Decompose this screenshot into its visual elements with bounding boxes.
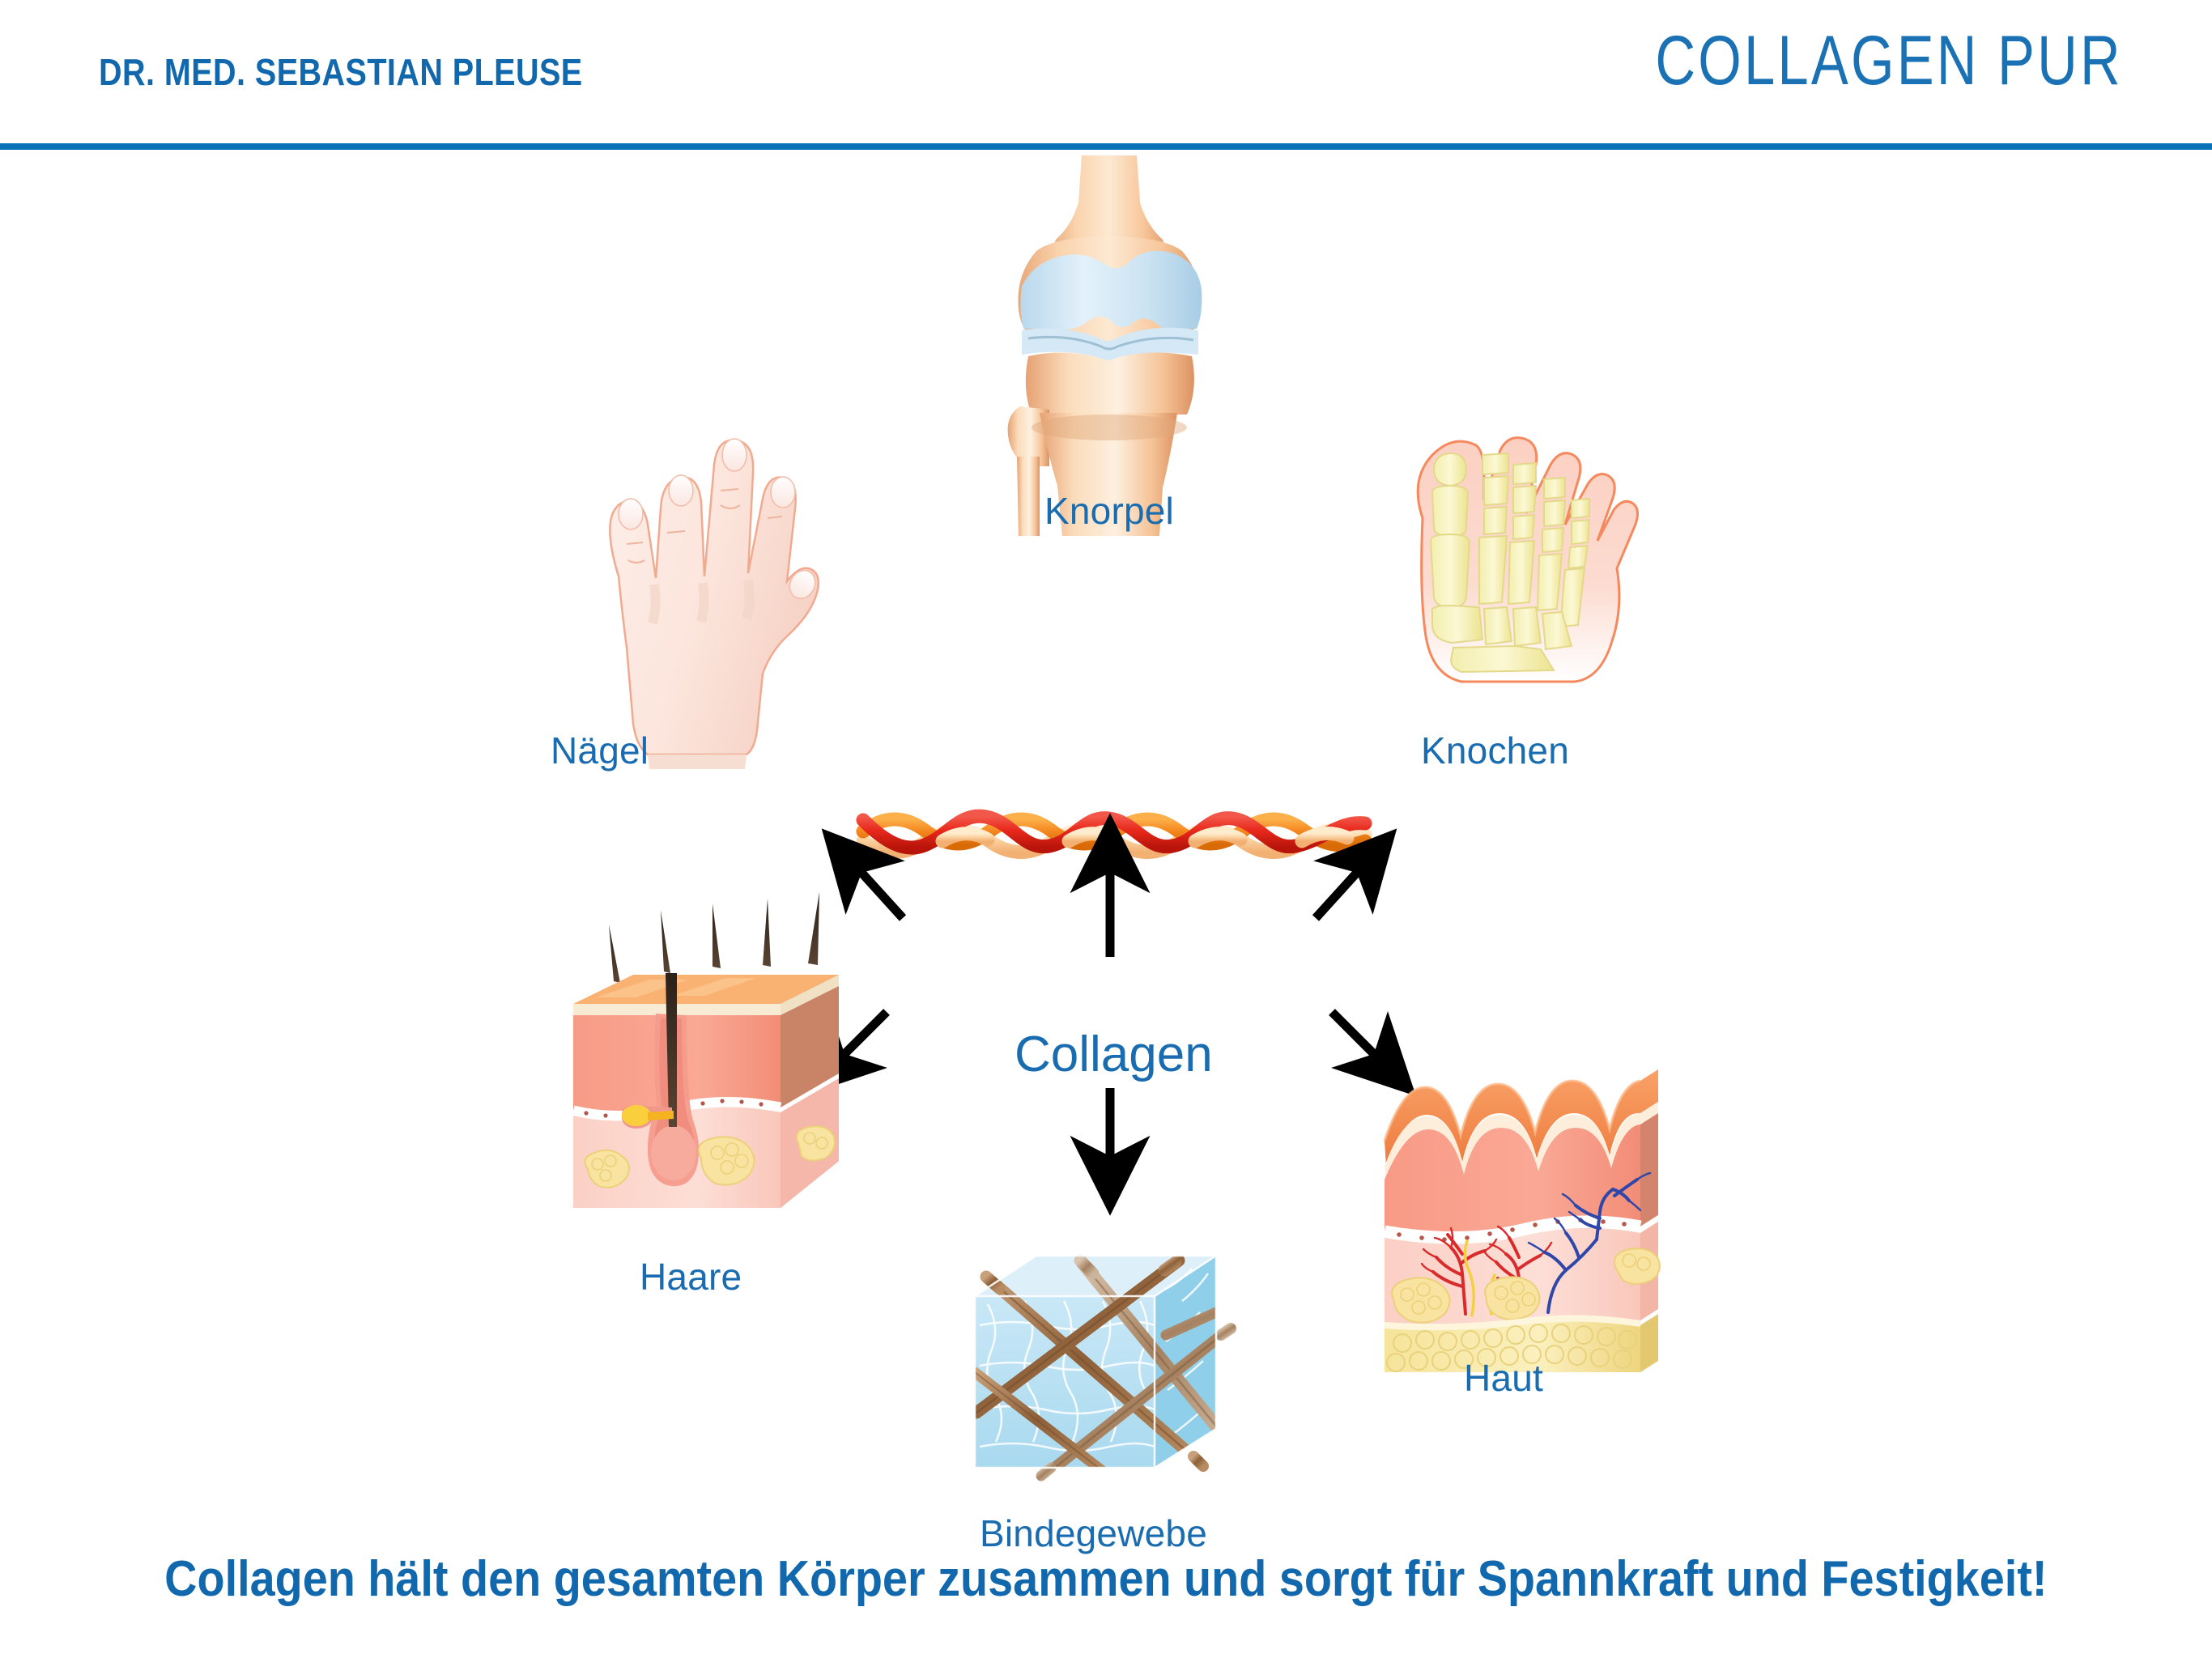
brand-title: COLLAGEN PUR: [1656, 21, 2123, 101]
label-haut: Haut: [1464, 1356, 1543, 1400]
node-collagen-center: [858, 791, 1368, 880]
label-naegel: Nägel: [551, 729, 649, 772]
label-collagen-center: Collagen: [1015, 1026, 1213, 1083]
node-knorpel: Knorpel: [1004, 155, 1214, 536]
node-haut: Haut: [1376, 1066, 1668, 1390]
node-haare: Haare: [559, 868, 850, 1289]
node-naegel: Nägel: [559, 431, 826, 771]
footer-tagline-wrapper: Collagen hält den gesamten Körper zusamm…: [0, 1550, 2212, 1608]
doctor-name-title: DR. MED. SEBASTIAN PLEUSE: [99, 50, 583, 94]
label-haare: Haare: [640, 1255, 742, 1299]
collagen-radial-diagram: Knorpel: [0, 147, 2212, 1507]
node-knochen: Knochen: [1405, 423, 1672, 763]
hand-with-fingernails-icon: [559, 431, 826, 771]
label-knochen: Knochen: [1421, 729, 1569, 772]
label-bindegewebe: Bindegewebe: [980, 1511, 1207, 1555]
page-header: DR. MED. SEBASTIAN PLEUSE COLLAGEN PUR: [0, 0, 2212, 147]
footer-tagline: Collagen hält den gesamten Körper zusamm…: [164, 1550, 2047, 1608]
foot-bones-xray-icon: [1405, 423, 1672, 763]
skin-layers-block-icon: [1376, 1066, 1668, 1390]
collagen-triple-helix-icon: [858, 791, 1368, 880]
label-knorpel: Knorpel: [1044, 489, 1174, 533]
node-bindegewebe: Bindegewebe: [963, 1244, 1255, 1560]
skin-cross-section-with-hair-follicle-icon: [559, 868, 850, 1289]
knee-joint-cartilage-icon: [1004, 155, 1214, 536]
